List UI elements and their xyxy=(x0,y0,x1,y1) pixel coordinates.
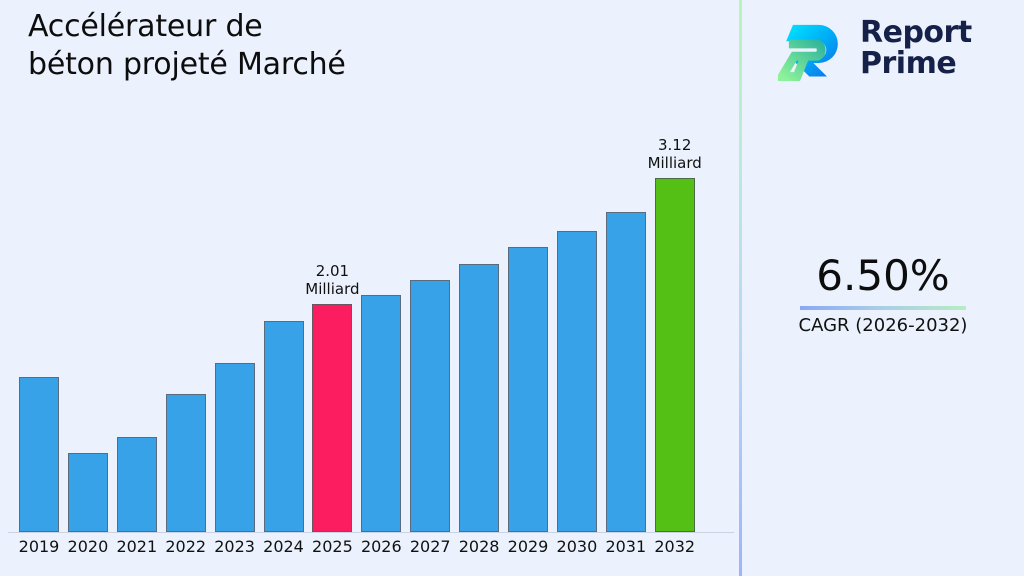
bar-2031 xyxy=(606,212,646,532)
x-axis-label-2032: 2032 xyxy=(645,537,705,557)
cagr-block: 6.50% CAGR (2026-2032) xyxy=(742,252,1024,338)
bar-2028 xyxy=(459,264,499,532)
x-axis-line xyxy=(8,532,734,533)
bar-2027 xyxy=(410,280,450,532)
bar-2021 xyxy=(117,437,157,532)
cagr-label: CAGR (2026-2032) xyxy=(742,314,1024,338)
bar-2019 xyxy=(19,377,59,532)
bar-value-label-2032: 3.12 Milliard xyxy=(620,136,730,172)
bar-2022 xyxy=(166,394,206,532)
bar-2029 xyxy=(508,247,548,532)
chart-panel: Accélérateur de béton projeté Marché 2.0… xyxy=(0,0,740,576)
brand-panel: Report Prime 6.50% CAGR (2026-2032) xyxy=(742,0,1024,576)
cagr-value: 6.50% xyxy=(742,252,1024,300)
chart-screenshot: Accélérateur de béton projeté Marché 2.0… xyxy=(0,0,1024,576)
bar-value-label-2025: 2.01 Milliard xyxy=(277,262,387,298)
bar-2025 xyxy=(312,304,352,532)
brand-logo: Report Prime xyxy=(778,14,972,82)
bar-2024 xyxy=(264,321,304,532)
bar-2030 xyxy=(557,231,597,532)
report-prime-logo-icon xyxy=(778,14,846,82)
bar-2023 xyxy=(215,363,255,532)
bar-2032 xyxy=(655,178,695,532)
bar-2020 xyxy=(68,453,108,532)
cagr-divider xyxy=(800,306,966,310)
brand-name: Report Prime xyxy=(860,17,972,79)
bar-2026 xyxy=(361,295,401,532)
bar-chart-plot: 2.01 Milliard3.12 Milliard 2019202020212… xyxy=(0,0,740,576)
